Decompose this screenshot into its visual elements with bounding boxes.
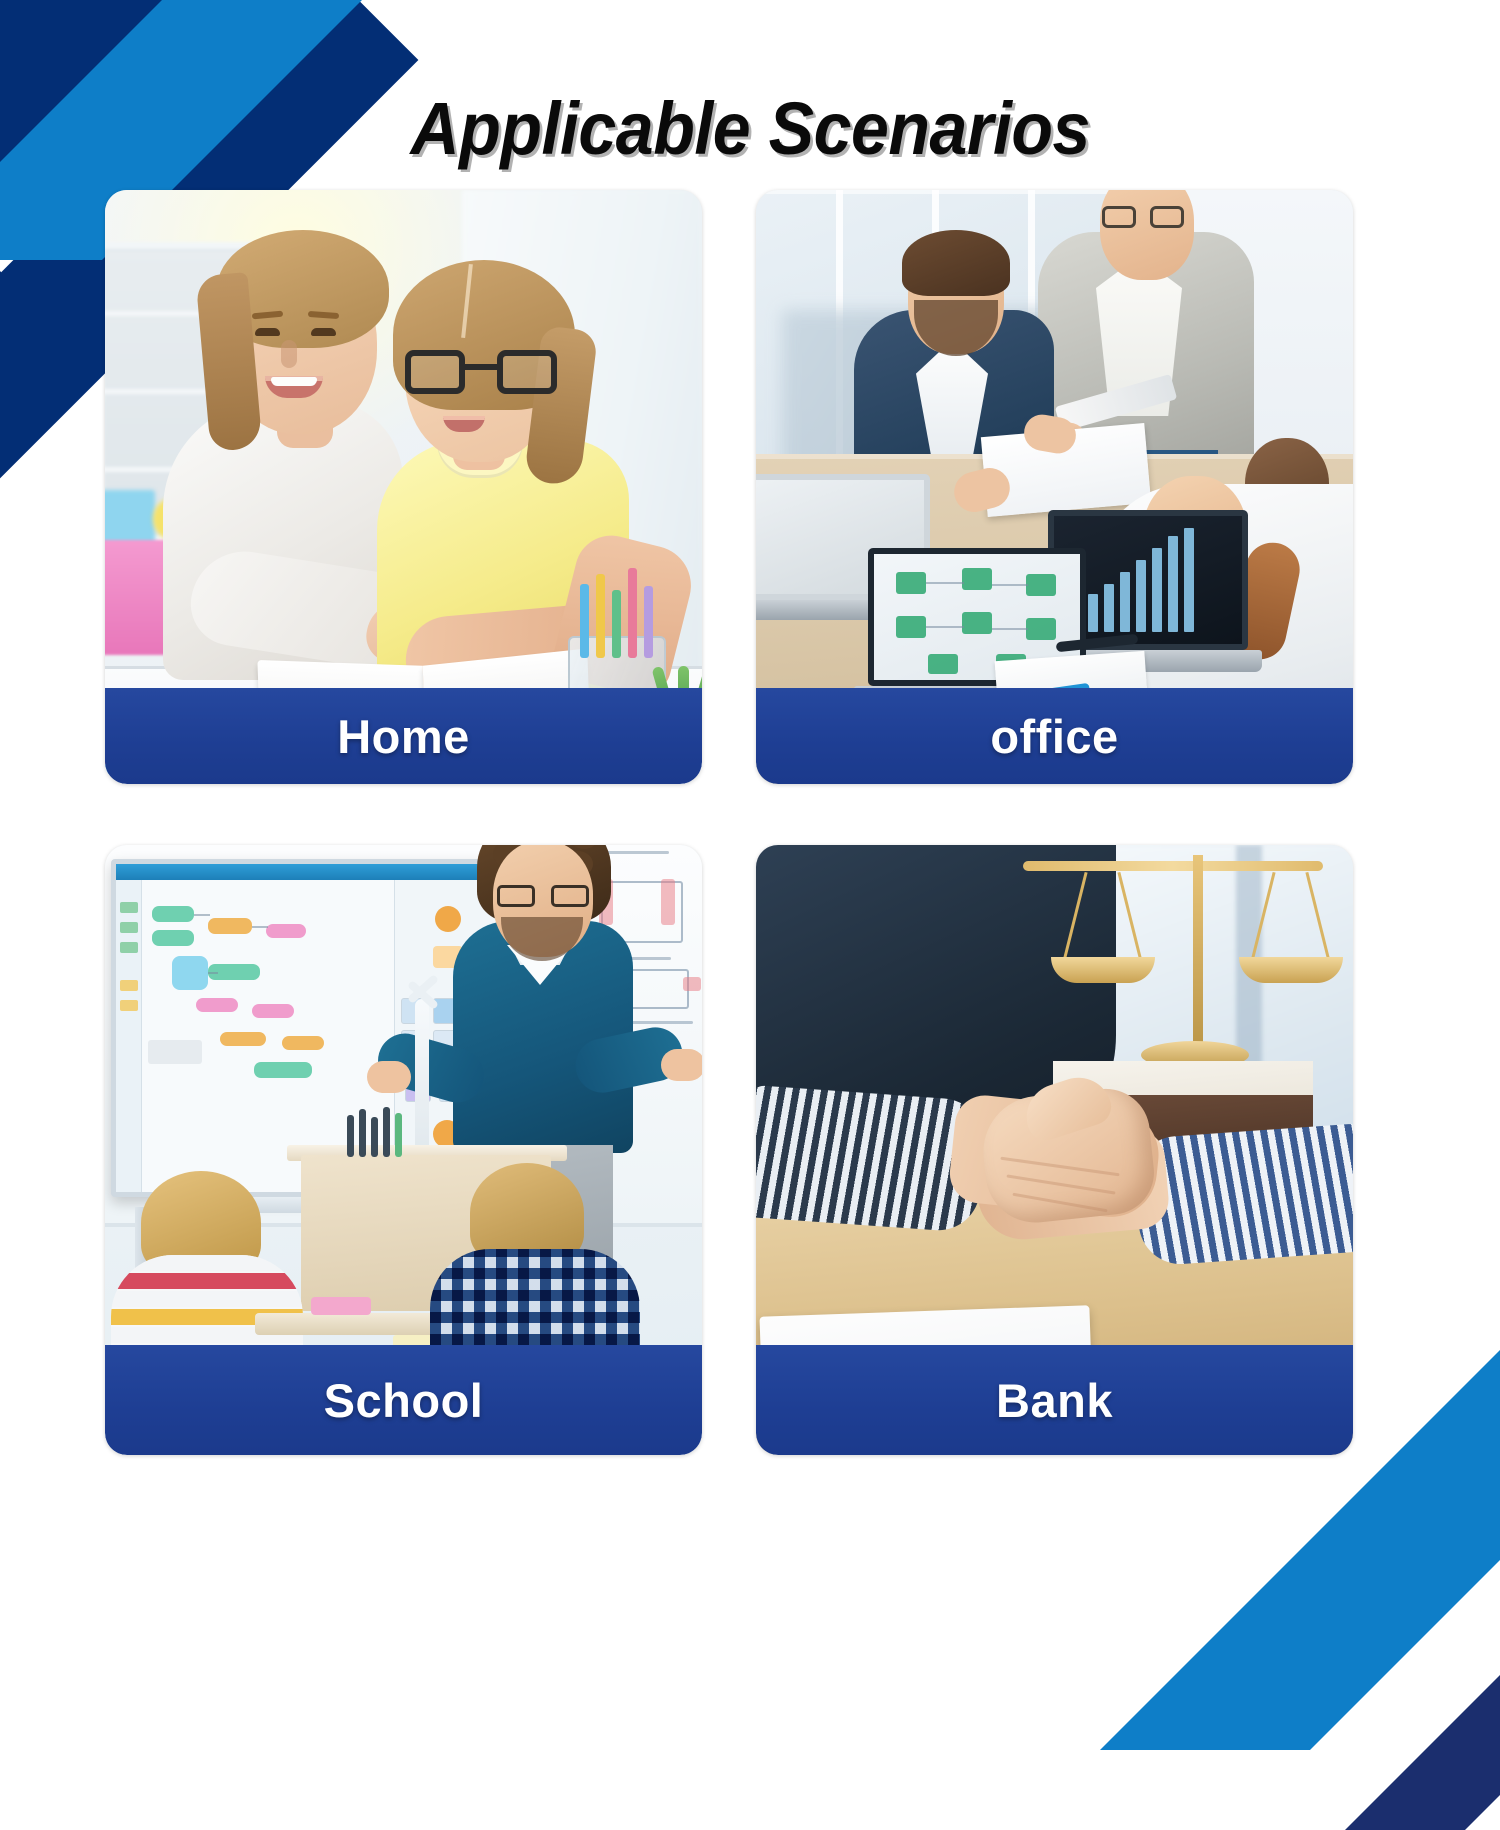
scenario-label-bar-office: office [756,688,1353,784]
scenario-label-office: office [990,709,1118,764]
scenario-label-school: School [324,1373,484,1428]
scenario-label-home: Home [337,709,470,764]
scenario-card-school[interactable]: School [105,845,702,1455]
scenario-card-home[interactable]: Home [105,190,702,784]
scenario-label-bar-school: School [105,1345,702,1455]
scenario-label-bar-home: Home [105,688,702,784]
scenario-card-office[interactable]: office [756,190,1353,784]
bottom-right-navy-band-icon [1345,1270,1500,1830]
scenario-card-bank[interactable]: Bank [756,845,1353,1455]
scenario-grid: Home [105,190,1353,1455]
scenario-label-bank: Bank [996,1373,1113,1428]
scenario-label-bar-bank: Bank [756,1345,1353,1455]
page-title-container: Applicable Scenarios [0,86,1500,171]
page-title: Applicable Scenarios [410,86,1089,171]
bottom-right-white-slash-icon [1366,1280,1500,1800]
